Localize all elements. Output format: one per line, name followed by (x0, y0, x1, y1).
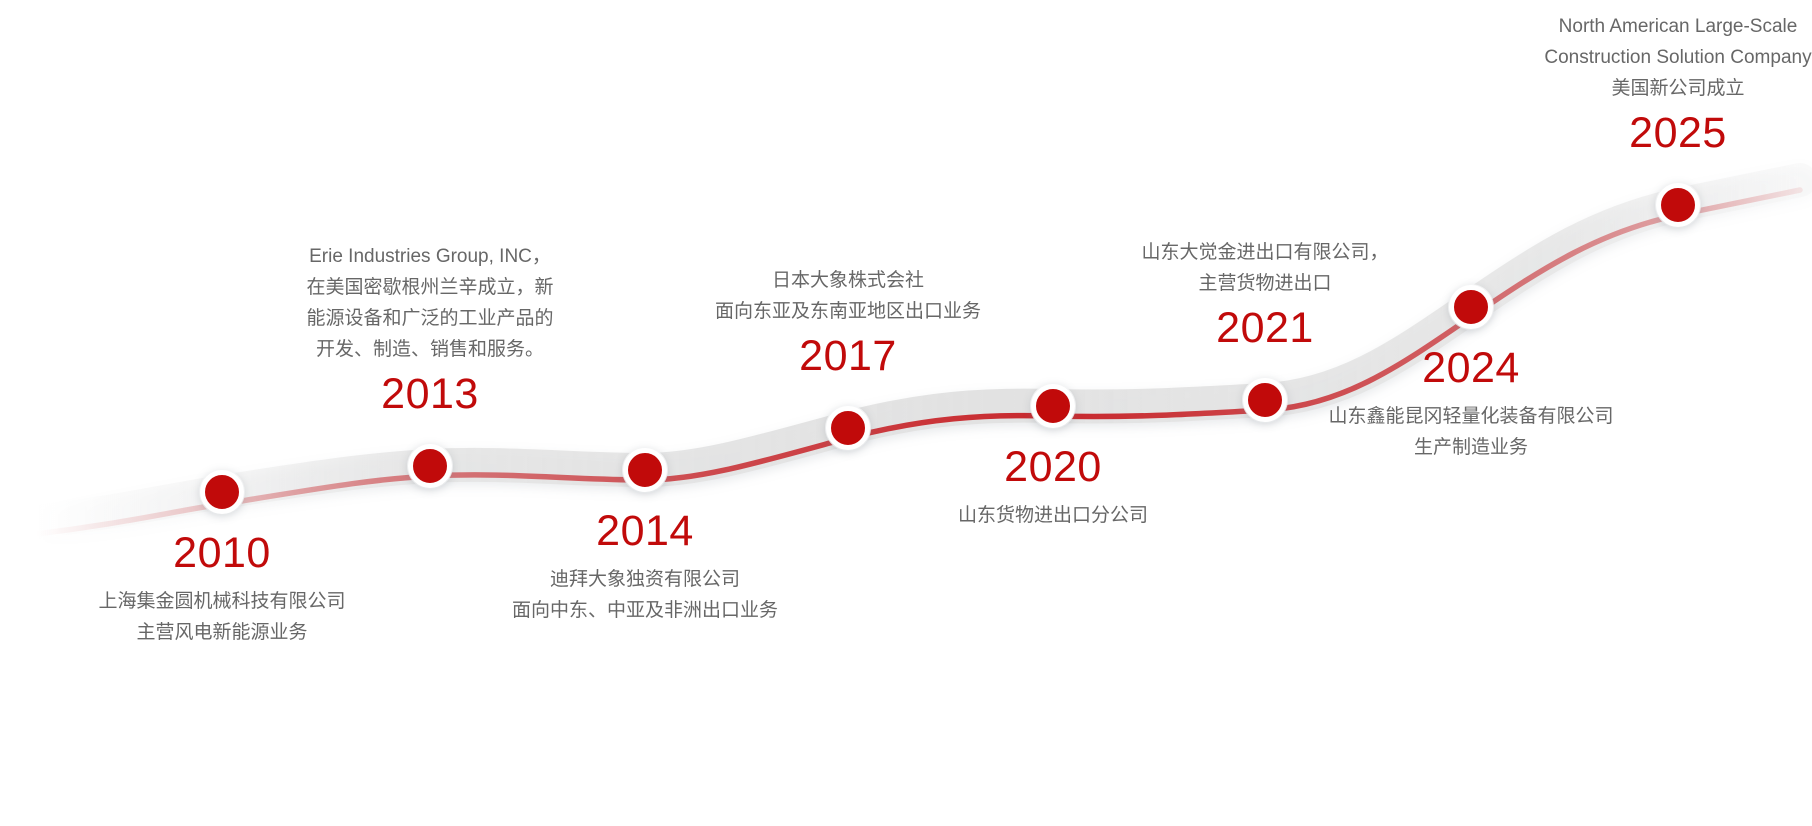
milestone-description-line: 主营风电新能源业务 (12, 618, 432, 649)
milestone-description-line: 山东货物进出口分公司 (843, 501, 1263, 532)
milestone-description-line: 能源设备和广泛的工业产品的 (220, 304, 640, 335)
milestone-description-line: 生产制造业务 (1261, 433, 1681, 464)
milestone-dot-2024[interactable] (1449, 285, 1493, 329)
milestone-label-2025: North American Large-ScaleConstruction S… (1468, 12, 1812, 169)
milestone-description-line: Construction Solution Company (1468, 43, 1812, 74)
milestone-description-2017: 日本大象株式会社面向东亚及东南亚地区出口业务 (638, 266, 1058, 328)
milestone-label-2024: 2024山东鑫能昆冈轻量化装备有限公司生产制造业务 (1261, 343, 1681, 463)
milestone-description-line: 美国新公司成立 (1468, 74, 1812, 105)
milestone-dot-2020[interactable] (1031, 384, 1075, 428)
milestone-description-line: Erie Industries Group, INC， (220, 242, 640, 273)
milestone-year-2014: 2014 (435, 506, 855, 557)
milestone-description-line: 面向中东、中亚及非洲出口业务 (435, 596, 855, 627)
timeline-infographic: 2010上海集金圆机械科技有限公司主营风电新能源业务Erie Industrie… (0, 0, 1812, 826)
milestone-dot-2013[interactable] (408, 444, 452, 488)
milestone-label-2014: 2014迪拜大象独资有限公司面向中东、中亚及非洲出口业务 (435, 506, 855, 626)
milestone-label-2020: 2020山东货物进出口分公司 (843, 442, 1263, 532)
milestone-description-2024: 山东鑫能昆冈轻量化装备有限公司生产制造业务 (1261, 402, 1681, 464)
milestone-description-line: 山东大觉金进出口有限公司， (1055, 238, 1475, 269)
milestone-description-line: 在美国密歇根州兰辛成立，新 (220, 273, 640, 304)
milestone-dot-2010[interactable] (200, 470, 244, 514)
milestone-description-line: 日本大象株式会社 (638, 266, 1058, 297)
milestone-description-line: 主营货物进出口 (1055, 269, 1475, 300)
milestone-year-2017: 2017 (638, 331, 1058, 382)
milestone-description-line: 面向东亚及东南亚地区出口业务 (638, 297, 1058, 328)
milestone-label-2017: 日本大象株式会社面向东亚及东南亚地区出口业务2017 (638, 266, 1058, 392)
milestone-year-2020: 2020 (843, 442, 1263, 493)
milestone-description-2025: North American Large-ScaleConstruction S… (1468, 12, 1812, 104)
milestone-description-line: 迪拜大象独资有限公司 (435, 565, 855, 596)
milestone-year-2010: 2010 (12, 528, 432, 579)
milestone-year-2024: 2024 (1261, 343, 1681, 394)
milestone-description-line: North American Large-Scale (1468, 12, 1812, 43)
milestone-description-2013: Erie Industries Group, INC，在美国密歇根州兰辛成立，新… (220, 242, 640, 365)
milestone-label-2013: Erie Industries Group, INC，在美国密歇根州兰辛成立，新… (220, 242, 640, 430)
milestone-description-line: 开发、制造、销售和服务。 (220, 335, 640, 366)
milestone-year-2013: 2013 (220, 369, 640, 420)
milestone-label-2010: 2010上海集金圆机械科技有限公司主营风电新能源业务 (12, 528, 432, 648)
milestone-dot-2014[interactable] (623, 448, 667, 492)
milestone-description-2010: 上海集金圆机械科技有限公司主营风电新能源业务 (12, 587, 432, 649)
milestone-description-2020: 山东货物进出口分公司 (843, 501, 1263, 532)
milestone-dot-2025[interactable] (1656, 183, 1700, 227)
milestone-description-2021: 山东大觉金进出口有限公司，主营货物进出口 (1055, 238, 1475, 300)
milestone-year-2025: 2025 (1468, 108, 1812, 159)
milestone-description-2014: 迪拜大象独资有限公司面向中东、中亚及非洲出口业务 (435, 565, 855, 627)
milestone-description-line: 山东鑫能昆冈轻量化装备有限公司 (1261, 402, 1681, 433)
milestone-description-line: 上海集金圆机械科技有限公司 (12, 587, 432, 618)
